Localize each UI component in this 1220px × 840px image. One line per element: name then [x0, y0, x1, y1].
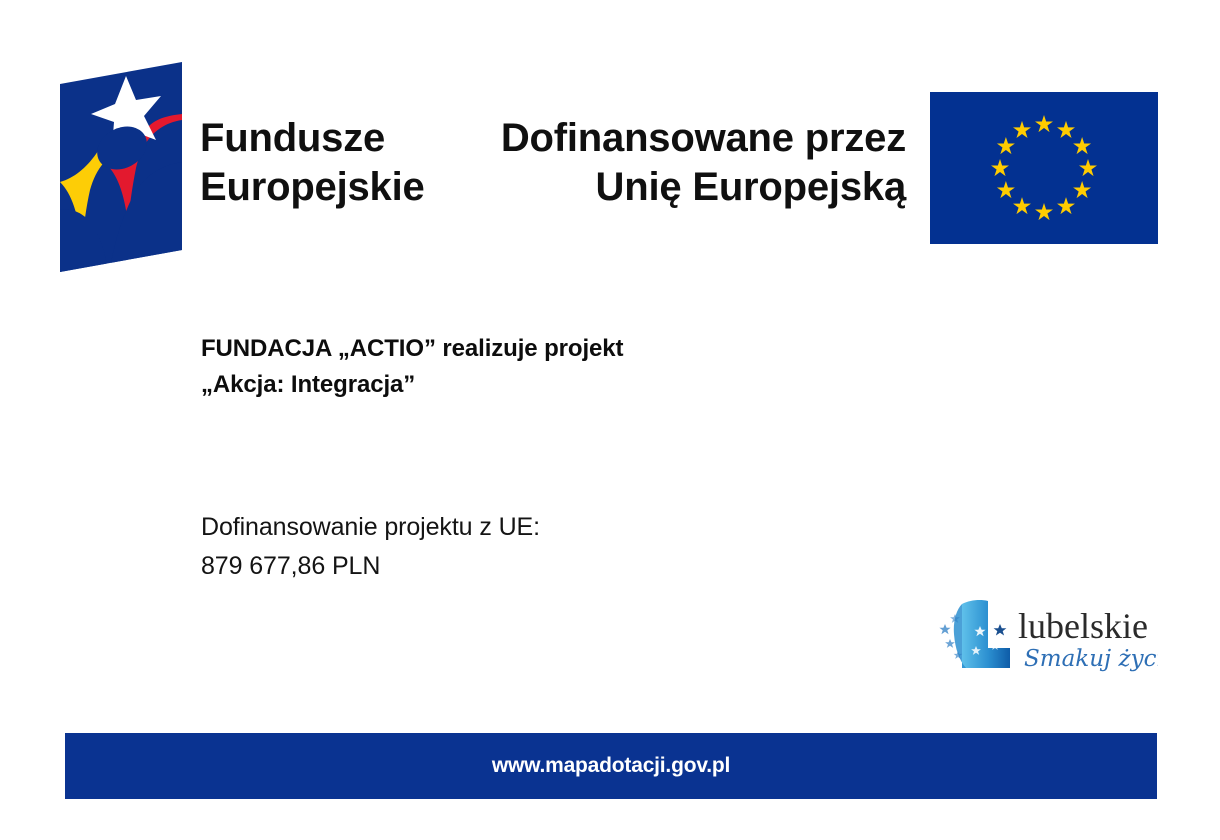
fundusze-europejskie-logo-icon [60, 62, 182, 272]
project-information-board: Fundusze Europejskie Dofinansowane przez… [0, 0, 1220, 840]
footer-bar: www.mapadotacji.gov.pl [65, 733, 1157, 799]
logo-strip: Fundusze Europejskie Dofinansowane przez… [0, 0, 1220, 300]
project-title-line-2: „Akcja: Integracja” [201, 367, 961, 403]
eu-wordmark-line-2: Unię Europejską [470, 163, 906, 212]
fe-wordmark-line-2: Europejskie [200, 163, 460, 212]
lubelskie-tagline-text: Smakuj życie! [1024, 646, 1158, 672]
footer-url-text[interactable]: www.mapadotacji.gov.pl [492, 754, 730, 778]
lubelskie-region-logo-icon: lubelskie Smakuj życie! [936, 596, 1158, 676]
fe-wordmark-line-1: Fundusze [200, 114, 460, 163]
eu-funding-wordmark: Dofinansowane przez Unię Europejską [470, 114, 906, 212]
funding-amount: 879 677,86 PLN [201, 547, 961, 586]
project-title-line-1: FUNDACJA „ACTIO” realizuje projekt [201, 331, 961, 367]
project-title-block: FUNDACJA „ACTIO” realizuje projekt „Akcj… [201, 331, 961, 402]
european-union-flag-icon [930, 92, 1158, 244]
funding-amount-block: Dofinansowanie projektu z UE: 879 677,86… [201, 508, 961, 586]
lubelskie-wordmark-text: lubelskie [1018, 606, 1148, 646]
funding-label: Dofinansowanie projektu z UE: [201, 508, 961, 547]
eu-wordmark-line-1: Dofinansowane przez [470, 114, 906, 163]
fundusze-europejskie-wordmark: Fundusze Europejskie [200, 114, 460, 212]
